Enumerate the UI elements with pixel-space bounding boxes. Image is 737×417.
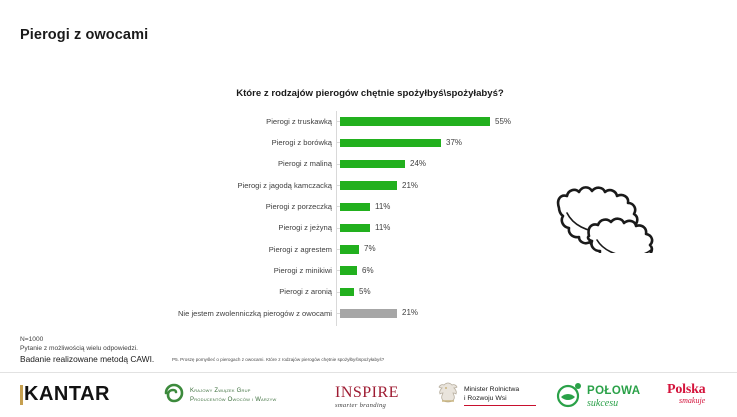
bar-segment[interactable]	[340, 309, 397, 318]
kzgpow-line2: Producentów Owoców i Warzyw	[190, 396, 277, 405]
bar-value-label: 7%	[364, 245, 376, 253]
bar-value-label: 55%	[495, 118, 511, 126]
logo-kantar: KANTAR	[20, 383, 110, 406]
bar-container: 55%	[336, 111, 550, 132]
logo-inspire: INSPIRE smarter branding	[335, 385, 399, 409]
bar-container: 11%	[336, 196, 550, 217]
chart-row: Nie jestem zwolenniczką pierogów z owoca…	[130, 303, 550, 324]
bar-container: 11%	[336, 217, 550, 238]
bar-segment[interactable]	[340, 117, 490, 126]
chart-row: Pierogi z maliną 24%	[130, 154, 550, 175]
category-label: Pierogi z borówką	[130, 139, 336, 147]
bar-container: 6%	[336, 260, 550, 281]
polska-line2: smakuje	[679, 397, 705, 405]
bar-segment[interactable]	[340, 288, 354, 297]
bar-segment[interactable]	[340, 224, 370, 233]
bar-value-label: 6%	[362, 267, 374, 275]
bar-segment[interactable]	[340, 160, 405, 169]
bar-container: 7%	[336, 239, 550, 260]
chart-row: Pierogi z aronią 5%	[130, 281, 550, 302]
bar-segment[interactable]	[340, 203, 370, 212]
bar-value-label: 24%	[410, 160, 426, 168]
category-label: Pierogi z maliną	[130, 160, 336, 168]
sample-size-note: N=1000	[20, 336, 154, 345]
chart-row: Pierogi z truskawką 55%	[130, 111, 550, 132]
ministry-line1: Minister Rolnictwa	[464, 385, 536, 394]
pierogi-illustration	[545, 168, 675, 253]
chart-row: Pierogi z borówką 37%	[130, 132, 550, 153]
category-label: Pierogi z porzeczką	[130, 203, 336, 211]
chart-title: Które z rodzajów pierogów chętnie spożył…	[160, 88, 580, 99]
polska-line1: Polska	[667, 383, 705, 397]
ministry-wordmark: Minister Rolnictwa i Rozwoju Wsi	[464, 385, 536, 407]
bar-value-label: 21%	[402, 309, 418, 317]
category-label: Pierogi z aronią	[130, 288, 336, 296]
inspire-wordmark: INSPIRE	[335, 385, 399, 401]
logo-polowa-sukcesu: POŁOWA sukcesu	[556, 382, 641, 413]
polowa-line1: POŁOWA	[587, 386, 641, 398]
question-note: P5. Proszę pomyśleć o pierogach z owocam…	[172, 357, 384, 362]
bar-segment[interactable]	[340, 266, 357, 275]
kantar-wordmark: KANTAR	[24, 383, 110, 406]
multi-answer-note: Pytanie z możliwością wielu odpowiedzi.	[20, 345, 154, 354]
bar-container: 5%	[336, 281, 550, 302]
leaf-icon	[163, 382, 185, 409]
polowa-line2: sukcesu	[587, 399, 641, 409]
footnotes: N=1000 Pytanie z możliwością wielu odpow…	[20, 336, 154, 365]
bar-value-label: 5%	[359, 288, 371, 296]
chart-row: Pierogi z jeżyną 11%	[130, 217, 550, 238]
kzgpow-line1: Krajowy Związek Grup	[190, 387, 277, 396]
bar-container: 21%	[336, 303, 550, 324]
chart-row: Pierogi z porzeczką 11%	[130, 196, 550, 217]
kzgpow-wordmark: Krajowy Związek Grup Producentów Owoców …	[190, 387, 277, 405]
chart-row: Pierogi z minikiwi 6%	[130, 260, 550, 281]
bar-container: 24%	[336, 154, 550, 175]
category-label: Nie jestem zwolenniczką pierogów z owoca…	[130, 310, 336, 318]
bar-segment[interactable]	[340, 181, 397, 190]
bar-value-label: 11%	[375, 224, 390, 232]
bar-value-label: 21%	[402, 182, 418, 190]
logo-polska-smakuje: Polska smakuje	[667, 383, 705, 405]
category-label: Pierogi z jeżyną	[130, 224, 336, 232]
chart-row: Pierogi z jagodą kamczacką 21%	[130, 175, 550, 196]
polish-eagle-icon	[437, 381, 459, 410]
circle-leaf-icon	[556, 382, 582, 413]
polowa-wordmark: POŁOWA sukcesu	[587, 386, 641, 409]
inspire-tagline: smarter branding	[335, 402, 386, 409]
logo-ministry: Minister Rolnictwa i Rozwoju Wsi	[437, 381, 536, 410]
ministry-line2: i Rozwoju Wsi	[464, 394, 536, 403]
bar-container: 21%	[336, 175, 550, 196]
logo-bar: KANTAR Krajowy Związek Grup Producentów …	[0, 372, 737, 417]
category-label: Pierogi z jagodą kamczacką	[130, 182, 336, 190]
ministry-red-rule	[464, 405, 536, 407]
chart-plot-area: Pierogi z truskawką 55% Pierogi z borówk…	[130, 111, 550, 326]
chart-row: Pierogi z agrestem 7%	[130, 239, 550, 260]
bar-value-label: 37%	[446, 139, 462, 147]
kantar-accent-bar	[20, 385, 23, 405]
category-label: Pierogi z agrestem	[130, 246, 336, 254]
category-label: Pierogi z truskawką	[130, 118, 336, 126]
category-label: Pierogi z minikiwi	[130, 267, 336, 275]
bar-segment[interactable]	[340, 245, 359, 254]
bar-container: 37%	[336, 132, 550, 153]
bar-segment[interactable]	[340, 139, 441, 148]
bar-value-label: 11%	[375, 203, 390, 211]
method-note: Badanie realizowane metodą CAWI.	[20, 354, 154, 365]
page-title: Pierogi z owocami	[20, 27, 148, 43]
logo-kzgpow: Krajowy Związek Grup Producentów Owoców …	[163, 382, 277, 409]
